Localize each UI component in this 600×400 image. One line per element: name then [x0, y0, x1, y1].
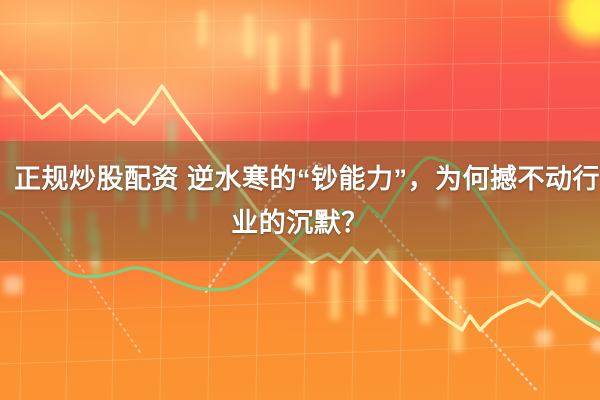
- headline: 正规炒股配资 逆水寒的“钞能力”，为何撼不动行 业的沉默？: [0, 141, 600, 261]
- headline-line-2: 业的沉默？: [231, 203, 369, 243]
- headline-line-1: 正规炒股配资 逆水寒的“钞能力”，为何撼不动行: [8, 159, 592, 199]
- banner-image: 正规炒股配资 逆水寒的“钞能力”，为何撼不动行 业的沉默？: [0, 0, 600, 400]
